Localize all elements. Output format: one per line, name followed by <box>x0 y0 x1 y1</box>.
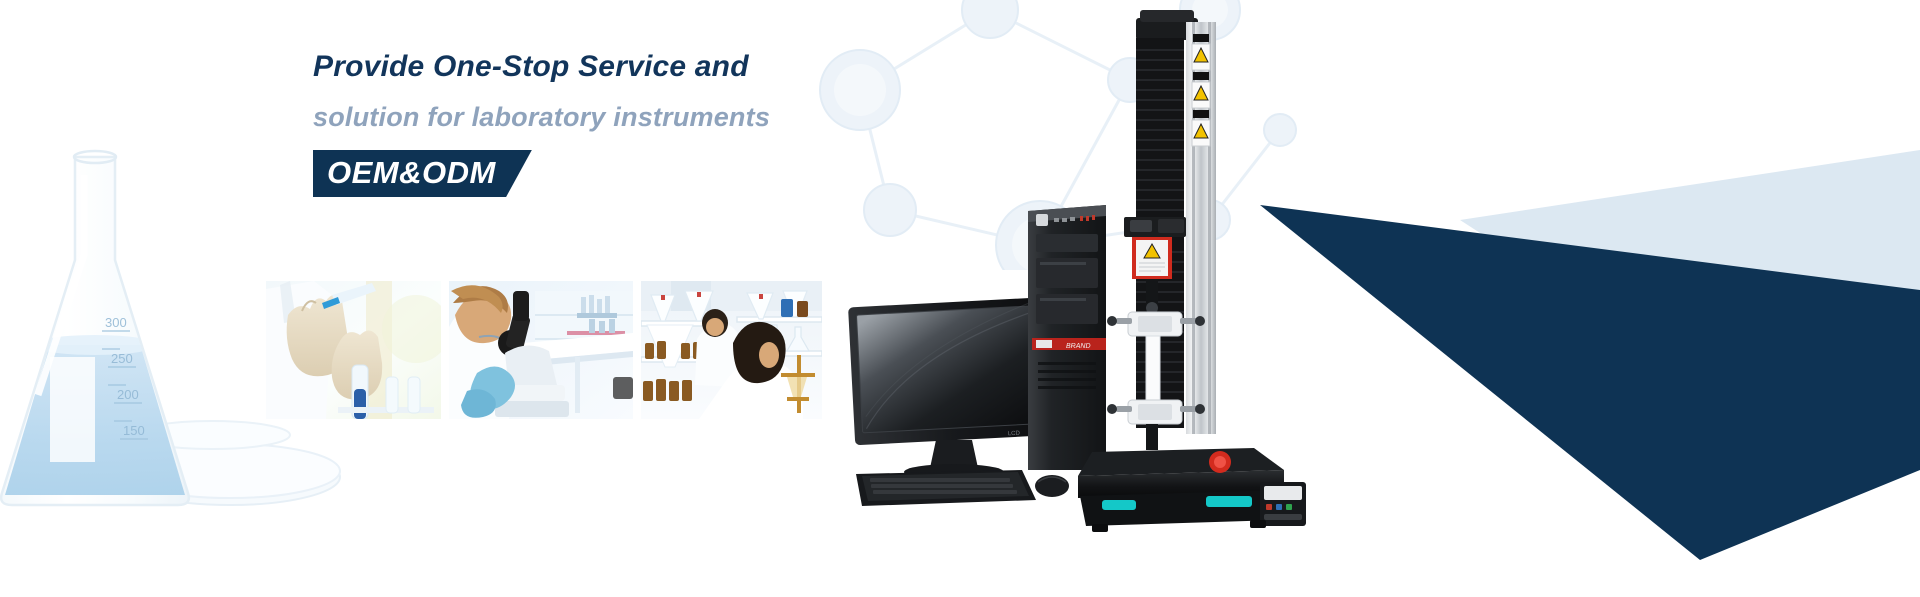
svg-text:200: 200 <box>117 387 139 402</box>
headline-block: Provide One-Stop Service and solution fo… <box>313 52 1073 197</box>
headline-line-2: solution for laboratory instruments <box>313 104 1073 131</box>
lab-photo-strip <box>266 281 822 419</box>
promo-banner: 300 250 200 150 Provide One-Stop Service… <box>0 0 1920 597</box>
keyboard <box>856 470 1036 506</box>
mouse <box>1035 475 1069 497</box>
svg-text:250: 250 <box>111 351 133 366</box>
dark-arrow-shape <box>1260 205 1920 560</box>
petri-dish-icon <box>120 421 340 505</box>
desktop-monitor: LCD <box>848 297 1051 480</box>
svg-text:LCD: LCD <box>1008 431 1021 438</box>
light-arrow-shape-lower <box>1630 320 1920 360</box>
geometric-arrow-decor <box>1160 0 1920 597</box>
headline-line-1: Provide One-Stop Service and <box>313 52 1073 82</box>
warning-label <box>1192 34 1210 146</box>
pc-tower: BRAND <box>1028 205 1106 470</box>
svg-text:BRAND: BRAND <box>1066 343 1091 350</box>
universal-tensile-testing-machine <box>1078 10 1306 532</box>
photo-pipetting-gloves <box>266 281 441 419</box>
oem-odm-badge: OEM&ODM <box>313 150 532 197</box>
photo-microscope <box>449 281 633 419</box>
light-arrow-shape <box>1460 150 1920 330</box>
oem-odm-badge-wrap: OEM&ODM <box>313 150 532 197</box>
photo-lab-workers <box>641 281 822 419</box>
svg-text:300: 300 <box>105 315 127 330</box>
svg-text:150: 150 <box>123 423 145 438</box>
